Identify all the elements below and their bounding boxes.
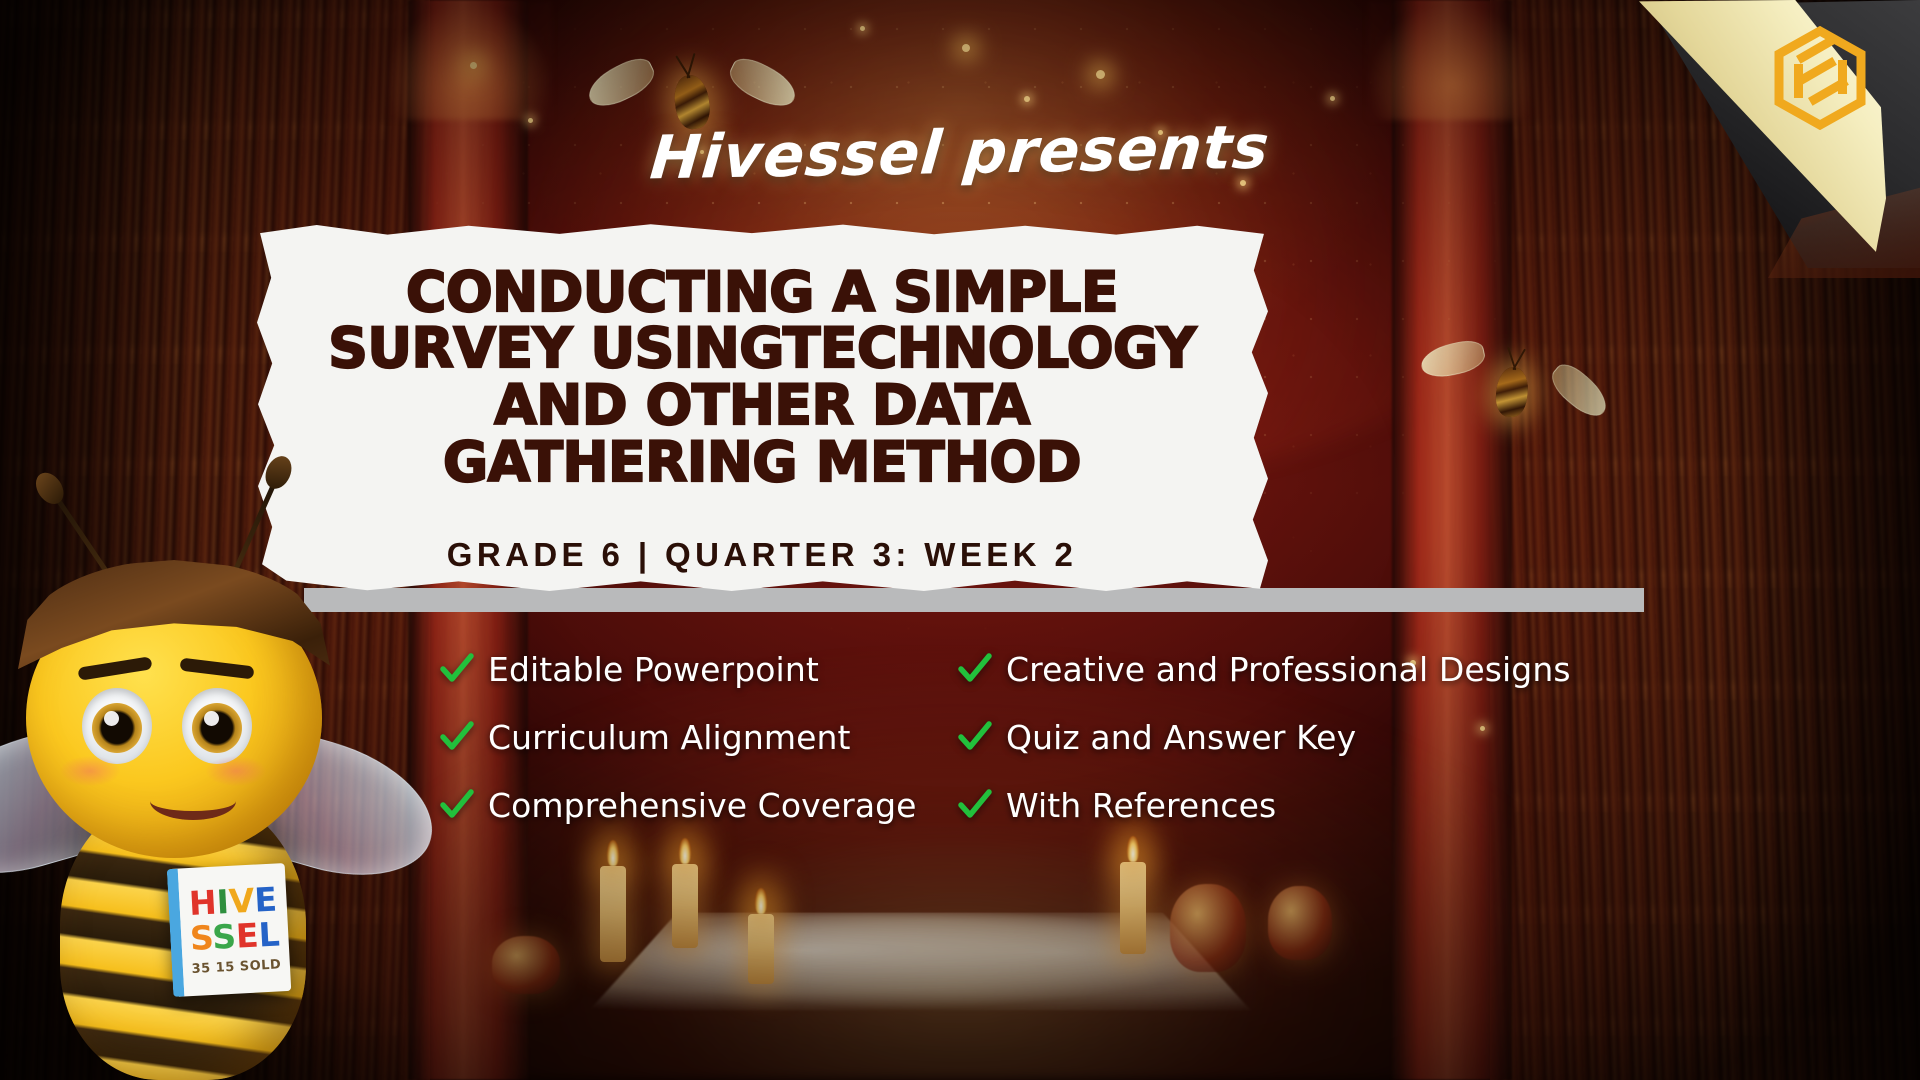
slide-canvas: Hivessel presents CONDUCTING A SIMPLE SU… [0,0,1920,1080]
feature-label: Editable Powerpoint [488,650,819,689]
book-letter: L [258,914,281,954]
hexagon-hive-logo-icon [1772,26,1868,130]
feature-label: Creative and Professional Designs [1006,650,1571,689]
list-item: Comprehensive Coverage [440,776,940,834]
banner-grey-strip [304,588,1644,612]
book-letter: S [211,917,237,957]
list-item: Editable Powerpoint [440,640,940,698]
feature-label: Quiz and Answer Key [1006,718,1356,757]
list-item: Quiz and Answer Key [958,708,1920,766]
green-check-icon [958,720,992,754]
feature-label: Curriculum Alignment [488,718,851,757]
green-check-icon [440,652,474,686]
book-badge: 35 15 SOLD [191,957,281,977]
pillar-cap-left [384,0,552,120]
mascot-iris [92,703,142,753]
mascot-iris [192,703,242,753]
green-check-icon [958,788,992,822]
grade-quarter-week-subtitle: GRADE 6 | QUARTER 3: WEEK 2 [447,536,1077,574]
list-item: With References [958,776,1920,834]
book-letter: E [235,915,260,955]
list-item: Curriculum Alignment [440,708,940,766]
mascot-smile [150,782,236,820]
mascot-blush-left [60,756,120,786]
green-check-icon [440,720,474,754]
bee-body [1494,366,1530,419]
green-check-icon [440,788,474,822]
book-letter: S [189,918,213,958]
honey-jar-3 [492,936,560,994]
green-check-icon [958,652,992,686]
title-banner: CONDUCTING A SIMPLE SURVEY USINGTECHNOLO… [256,222,1268,594]
mascot-eye-right [182,688,252,764]
mascot-eye-left [82,688,152,764]
candle-3 [748,914,774,984]
page-curl-corner [1590,0,1920,268]
feature-label: Comprehensive Coverage [488,786,917,825]
bee-mascot: HIVE SSEL 35 15 SOLD [0,520,394,1080]
page-title: CONDUCTING A SIMPLE SURVEY USINGTECHNOLO… [312,264,1212,491]
features-list: Editable Powerpoint Creative and Profess… [440,640,1920,834]
feature-label: With References [1006,786,1276,825]
pillar-cap-right [1368,0,1536,120]
book-title-line-2: SSEL [189,917,280,955]
mascot-book: HIVE SSEL 35 15 SOLD [167,863,292,997]
list-item: Creative and Professional Designs [958,640,1920,698]
